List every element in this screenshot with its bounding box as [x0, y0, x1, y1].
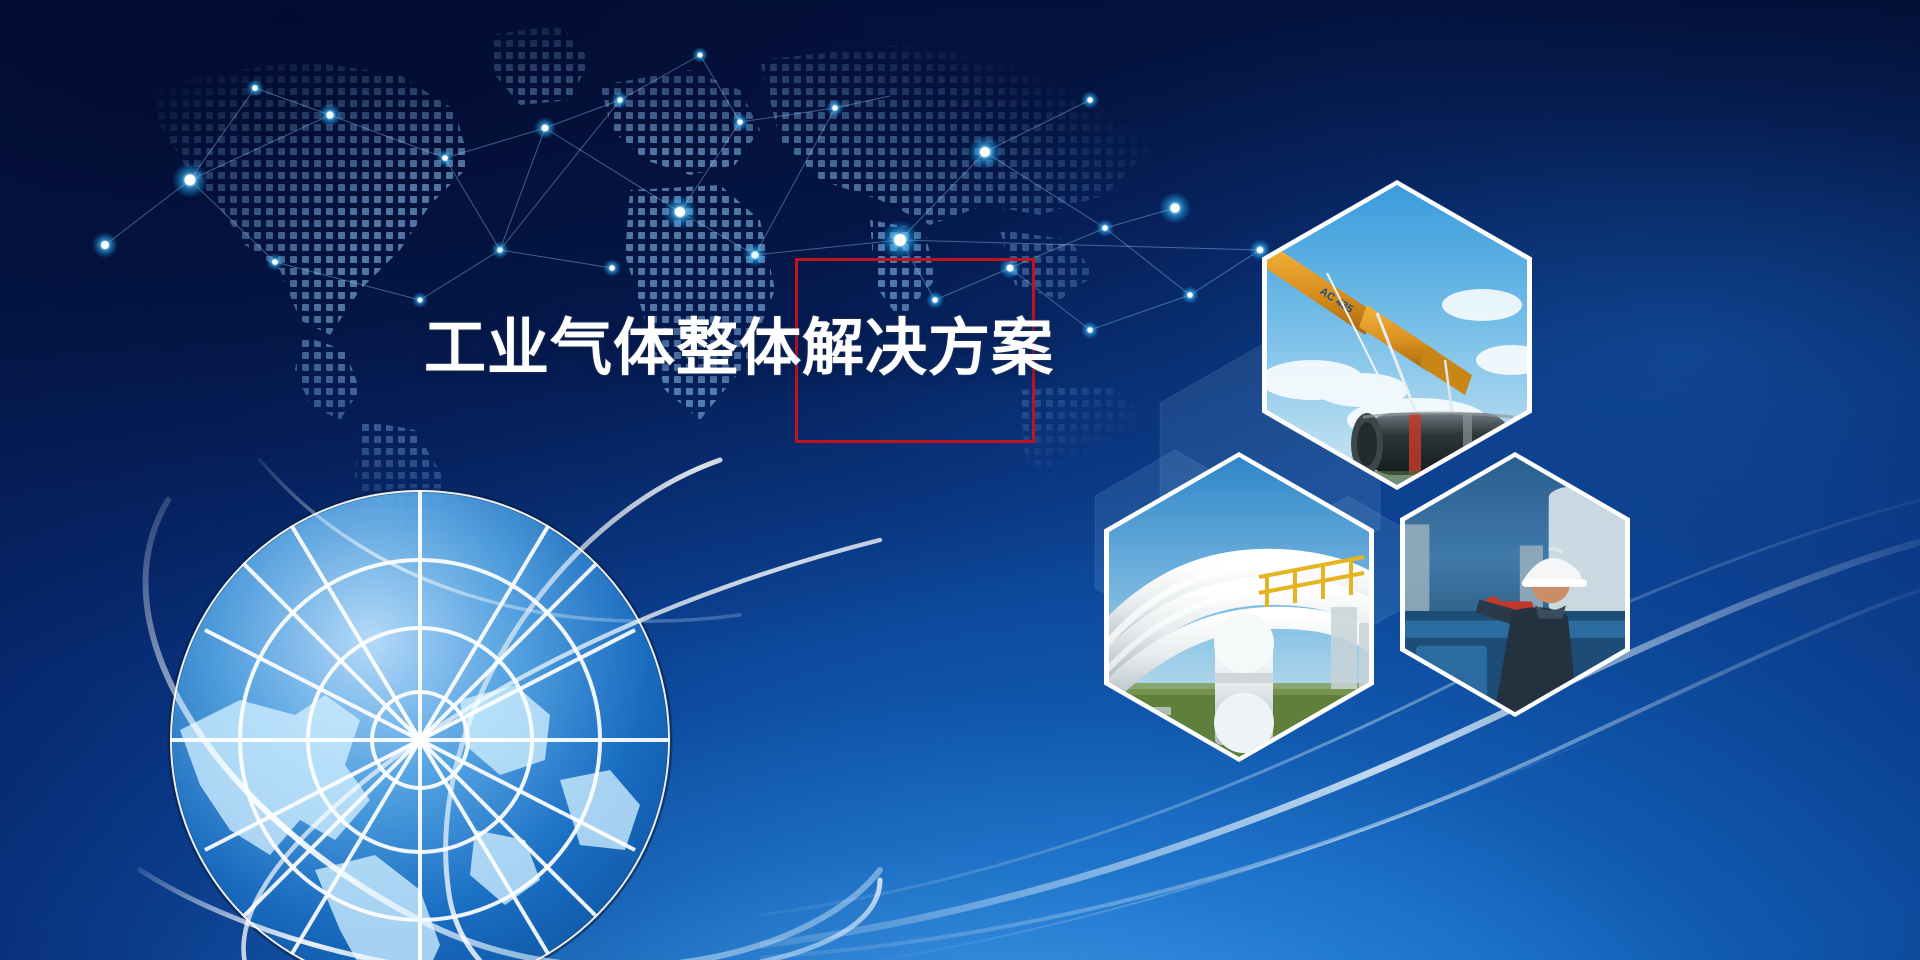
hex-photo-pipeline-frame	[1104, 452, 1374, 762]
hex-photo-pipeline-image	[1109, 457, 1369, 757]
hex-photo-crane[interactable]: AC 435	[1262, 180, 1532, 490]
hex-photo-worker-frame	[1400, 452, 1630, 717]
hex-photo-worker[interactable]	[1400, 452, 1630, 717]
hex-photo-crane-frame: AC 435	[1262, 180, 1532, 490]
hex-photo-crane-image: AC 435	[1267, 185, 1527, 485]
hex-photo-worker-image	[1405, 457, 1625, 712]
industrial-gas-banner: 工业气体整体解决方案	[0, 0, 1920, 960]
page-title: 工业气体整体解决方案	[424, 318, 1054, 380]
hex-photo-pipeline[interactable]	[1104, 452, 1374, 762]
